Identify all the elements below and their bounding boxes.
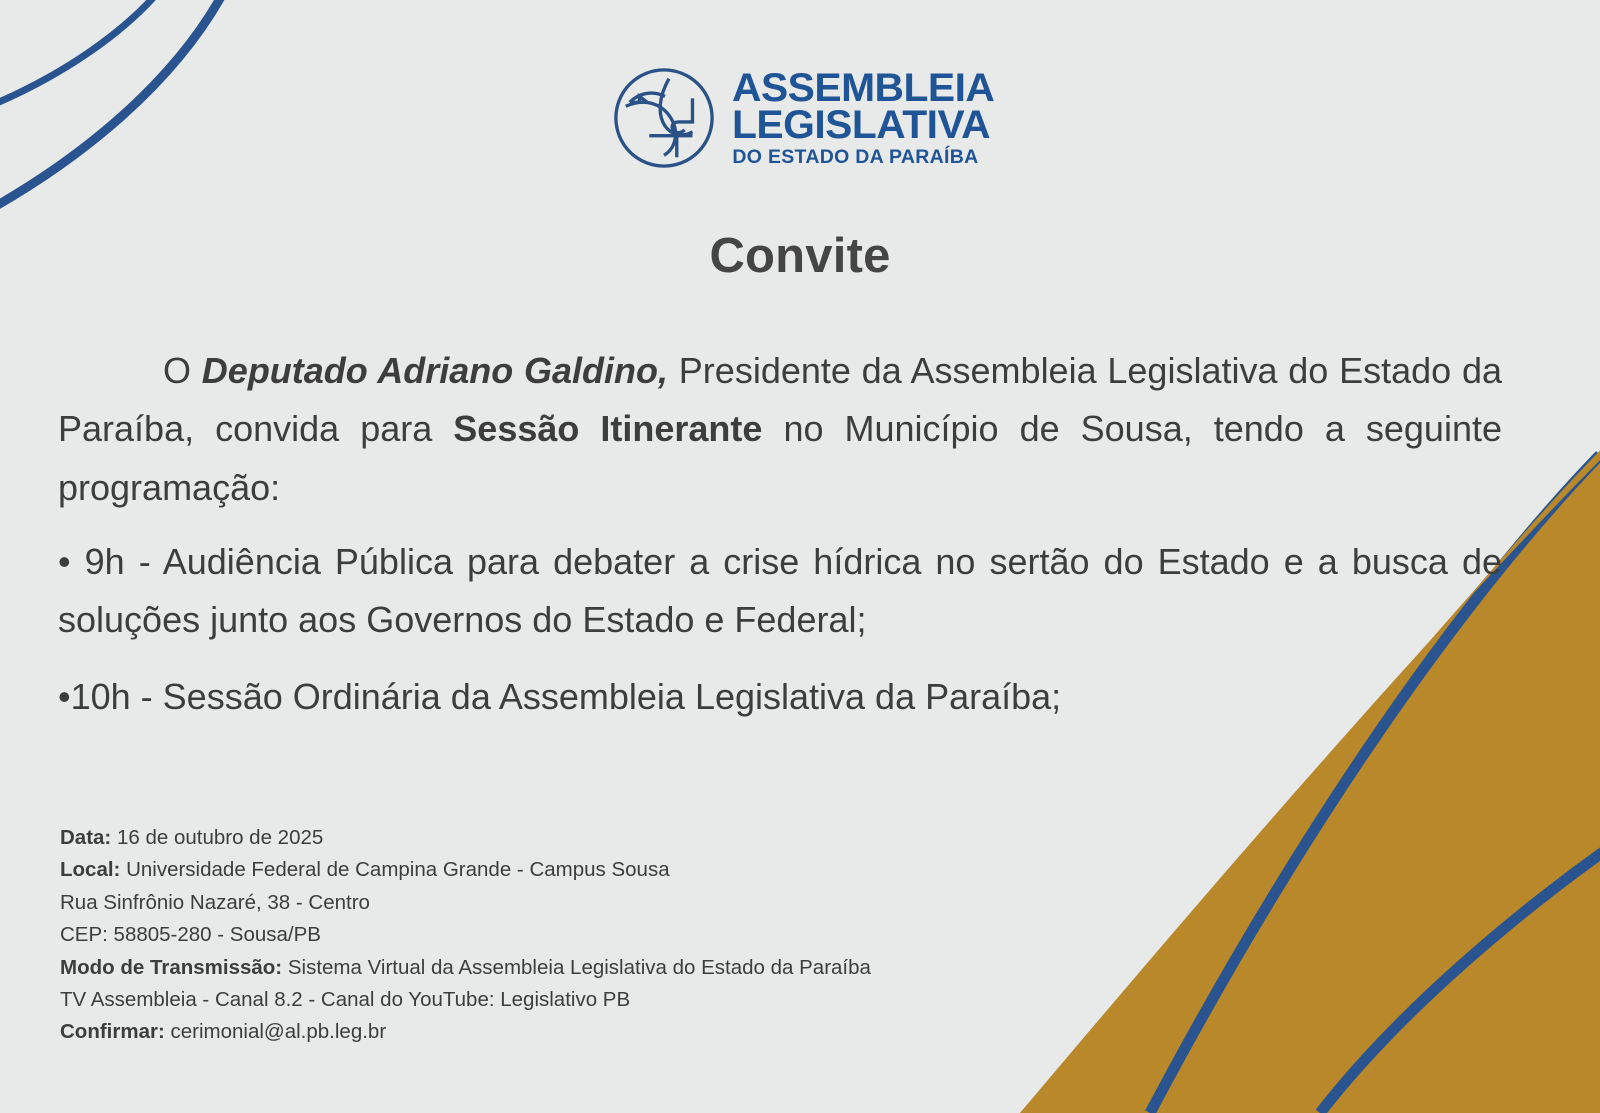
schedule-item-2: •10h - Sessão Ordinária da Assembleia Le… <box>58 668 1502 726</box>
detail-venue-label: Local: <box>60 858 120 881</box>
logo-text-line-3: DO ESTADO DA PARAÍBA <box>732 148 989 166</box>
detail-broadcast-value: Sistema Virtual da Assembleia Legislativ… <box>282 956 871 979</box>
detail-rsvp: Confirmar: cerimonial@al.pb.leg.br <box>60 1016 1120 1048</box>
detail-rsvp-label: Confirmar: <box>60 1020 165 1043</box>
detail-venue-value: Universidade Federal de Campina Grande -… <box>120 858 669 881</box>
institution-logo: ASSEMBLEIA LEGISLATIVA DO ESTADO DA PARA… <box>0 62 1600 174</box>
detail-address: Rua Sinfrônio Nazaré, 38 - Centro <box>60 887 1120 919</box>
logo-text-line-1: ASSEMBLEIA <box>732 70 994 107</box>
assembleia-dove-circle-emblem-icon <box>610 62 718 174</box>
detail-rsvp-email: cerimonial@al.pb.leg.br <box>165 1020 386 1043</box>
paragraph-lead: O <box>163 350 202 391</box>
schedule-item-1: • 9h - Audiência Pública para debater a … <box>58 533 1502 650</box>
detail-venue: Local: Universidade Federal de Campina G… <box>60 854 1120 886</box>
detail-date: Data: 16 de outubro de 2025 <box>60 822 1120 854</box>
detail-broadcast-label: Modo de Transmissão: <box>60 956 282 979</box>
logo-text-line-2: LEGISLATIVA <box>732 107 994 144</box>
invitation-paragraph: O Deputado Adriano Galdino, Presidente d… <box>58 342 1502 517</box>
session-type: Sessão Itinerante <box>453 408 762 449</box>
deputy-name: Deputado Adriano Galdino, <box>202 350 668 391</box>
detail-date-value: 16 de outubro de 2025 <box>111 826 323 849</box>
detail-postal-code: CEP: 58805-280 - Sousa/PB <box>60 919 1120 951</box>
detail-broadcast: Modo de Transmissão: Sistema Virtual da … <box>60 952 1120 984</box>
event-details: Data: 16 de outubro de 2025 Local: Unive… <box>60 822 1120 1049</box>
page-title: Convite <box>0 228 1600 284</box>
detail-date-label: Data: <box>60 826 111 849</box>
detail-tv-channel: TV Assembleia - Canal 8.2 - Canal do You… <box>60 984 1120 1016</box>
